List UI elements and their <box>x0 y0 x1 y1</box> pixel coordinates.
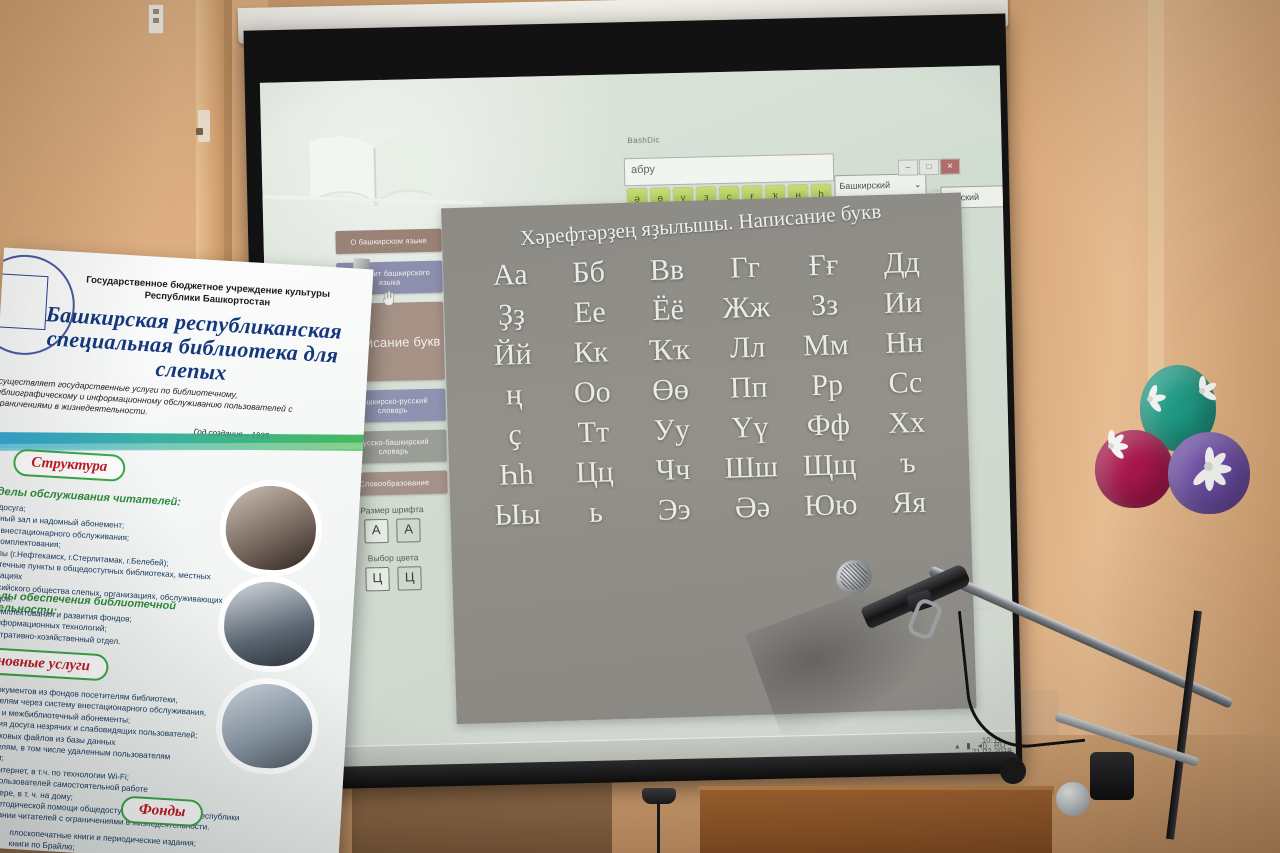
alphabet-cell: Дд <box>862 245 941 281</box>
conference-room-photo: О башкирском языке Алфавит башкирского я… <box>0 0 1280 853</box>
door-handle <box>196 128 203 135</box>
alphabet-row: Ыы ь Ээ Әә Юю Яя <box>468 485 959 534</box>
banner-section-services: Основные услуги <box>0 646 109 682</box>
dictionary-search-input[interactable]: абру <box>624 153 835 186</box>
alphabet-cell: Ыы <box>478 497 557 533</box>
alphabet-cell: Ее <box>550 295 629 331</box>
alphabet-cell: Вв <box>627 252 706 288</box>
door-frame-shadow <box>224 0 232 300</box>
alphabet-cell: Пп <box>709 370 788 406</box>
light-switch <box>148 4 164 34</box>
color-label: Выбор цвета <box>343 552 443 564</box>
tray-arrow-icon[interactable]: ▴ <box>955 742 959 751</box>
alphabet-cell: Рр <box>787 368 866 404</box>
alphabet-cell: Өө <box>631 372 710 408</box>
color-option-button-1[interactable]: Ц <box>365 567 390 592</box>
color-option-button-2[interactable]: Ц <box>397 566 422 591</box>
alphabet-cell: Лл <box>708 330 787 366</box>
stand-joint <box>1090 752 1134 800</box>
alphabet-cell: Ээ <box>635 492 714 528</box>
alphabet-cell: Шш <box>712 450 791 486</box>
purple-balloon <box>1168 432 1250 514</box>
banner-section-funds: Фонды <box>120 796 204 828</box>
library-rollup-banner: Государственное бюджетное учреждение кул… <box>0 248 373 853</box>
banner-title: Башкирская республиканская специальная б… <box>31 301 355 392</box>
sidebar-item-label: О башкирском языке <box>350 236 427 247</box>
bashdic-window-title: BashDic <box>627 135 660 145</box>
alphabet-cell: Сс <box>866 365 945 401</box>
alphabet-cell: Ии <box>863 285 942 321</box>
alphabet-cell: Ҡҡ <box>630 332 709 368</box>
banner-swoosh-secondary <box>0 443 373 451</box>
alphabet-cell: Бб <box>549 255 628 291</box>
sidebar-item-label: Слово­образование <box>359 478 429 489</box>
close-button[interactable]: ✕ <box>940 158 960 174</box>
alphabet-cell: Хх <box>867 405 946 441</box>
alphabet-cell: Уу <box>632 412 711 448</box>
alphabet-cell: Гг <box>706 250 785 286</box>
chevron-down-icon: ⌄ <box>914 179 922 190</box>
alphabet-cell: Нн <box>865 325 944 361</box>
alphabet-cell: Щщ <box>790 447 869 483</box>
maximize-button[interactable]: □ <box>919 159 939 175</box>
alphabet-cell: ь <box>556 495 635 531</box>
minimize-button[interactable]: – <box>898 159 918 175</box>
alphabet-cell: ң <box>474 377 553 413</box>
alphabet-cell: Үү <box>710 410 789 446</box>
alphabet-cell: Ғғ <box>784 248 863 284</box>
sidebar-item-label: Башкирско-русский словарь <box>357 396 428 415</box>
banner-section-structure: Структура <box>13 449 126 483</box>
alphabet-cell: Фф <box>789 407 868 443</box>
crimson-balloon <box>1095 430 1173 508</box>
alphabet-cell: Оо <box>553 375 632 411</box>
door-latch <box>198 110 210 142</box>
alphabet-cell: Чч <box>633 452 712 488</box>
alphabet-cell: ҫ <box>476 417 555 453</box>
sidebar-item-label: Русско-башкирский словарь <box>358 437 429 456</box>
alphabet-cell: ъ <box>868 445 947 481</box>
banner-photo-building <box>220 681 315 770</box>
alphabet-cell: Ёё <box>628 292 707 328</box>
stand-adjust-knob <box>1056 782 1090 816</box>
alphabet-cell: Ҙҙ <box>472 297 551 333</box>
alphabet-cell: Зз <box>785 288 864 324</box>
alphabet-cell: Йй <box>473 337 552 373</box>
microphone-grille <box>840 563 868 590</box>
color-control: Выбор цвета Ц Ц <box>343 552 444 592</box>
banner-photo-lecture <box>224 483 319 572</box>
banner-photo-event <box>222 579 317 668</box>
desk-lamp-stem <box>657 802 660 853</box>
font-size-decrease-button[interactable]: A <box>364 519 389 544</box>
alphabet-cell: Жж <box>707 290 786 326</box>
alphabet-cell: Яя <box>869 485 948 521</box>
font-size-increase-button[interactable]: A <box>396 518 421 543</box>
alphabet-cell: Кк <box>551 335 630 371</box>
screen-bar-knob <box>1000 758 1026 784</box>
network-icon[interactable]: ▮ <box>966 741 971 750</box>
alphabet-cell: Цц <box>555 455 634 491</box>
alphabet-grid: Аа Бб Вв Гг Ғғ Дд Ҙҙ Ее Ёё Жж Зз Ии <box>461 245 959 540</box>
hand-cursor-icon <box>381 290 395 306</box>
search-input-value: абру <box>625 154 833 181</box>
banner-funds-lines: плоскопечатные книги и периодические изд… <box>8 827 309 853</box>
alphabet-cell: Тт <box>554 415 633 451</box>
alphabet-cell: Һһ <box>477 457 556 493</box>
source-language-value: Башкирский <box>839 180 890 191</box>
alphabet-cell: Юю <box>791 487 870 523</box>
alphabet-cell: Мм <box>786 328 865 364</box>
alphabet-cell: Аа <box>471 257 550 293</box>
alphabet-cell: Әә <box>713 490 792 526</box>
sidebar-item-about-bashkir[interactable]: О башкирском языке <box>335 229 442 254</box>
window-controls: – □ ✕ <box>898 158 960 175</box>
open-book-logo <box>299 124 451 220</box>
wooden-table <box>700 790 1052 853</box>
